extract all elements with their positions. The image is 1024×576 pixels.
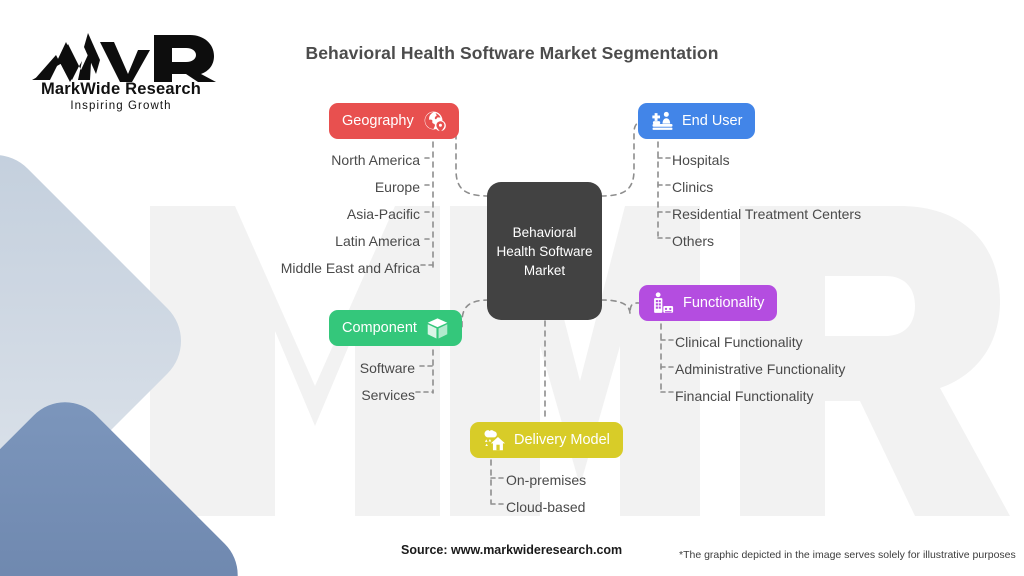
branch-label-delivery: Delivery Model — [514, 432, 610, 448]
logo-tagline: Inspiring Growth — [26, 100, 216, 112]
branch-items-delivery: On-premises Cloud-based — [506, 467, 766, 521]
branch-label-geography: Geography — [342, 113, 414, 129]
list-item: Latin America — [130, 228, 420, 255]
branch-badge-component[interactable]: Component — [329, 310, 462, 346]
branch-badge-functionality[interactable]: Functionality — [639, 285, 777, 321]
branch-label-enduser: End User — [682, 113, 742, 129]
clinic-building-icon — [652, 292, 675, 315]
center-node-label: Behavioral Health Software Market — [487, 223, 602, 280]
list-item: Clinical Functionality — [675, 329, 975, 356]
list-item: North America — [130, 147, 420, 174]
branch-items-functionality: Clinical Functionality Administrative Fu… — [675, 329, 975, 410]
globe-pin-icon — [423, 110, 446, 133]
list-item: On-premises — [506, 467, 766, 494]
source-text: Source: www.markwideresearch.com — [401, 543, 622, 557]
list-item: Asia-Pacific — [130, 201, 420, 228]
cube-box-icon — [426, 317, 449, 340]
list-item: Hospitals — [672, 147, 972, 174]
cloud-house-icon — [483, 429, 506, 452]
branch-items-component: Software Services — [170, 355, 415, 409]
list-item: Software — [170, 355, 415, 382]
list-item: Administrative Functionality — [675, 356, 975, 383]
list-item: Others — [672, 228, 972, 255]
branch-label-component: Component — [342, 320, 417, 336]
disclaimer-text: *The graphic depicted in the image serve… — [679, 549, 1016, 561]
branch-items-enduser: Hospitals Clinics Residential Treatment … — [672, 147, 972, 255]
branch-badge-geography[interactable]: Geography — [329, 103, 459, 139]
branch-badge-enduser[interactable]: End User — [638, 103, 755, 139]
branch-badge-delivery[interactable]: Delivery Model — [470, 422, 623, 458]
list-item: Financial Functionality — [675, 383, 975, 410]
center-node: Behavioral Health Software Market — [487, 182, 602, 320]
decorative-square-dark — [0, 384, 256, 576]
list-item: Middle East and Africa — [130, 255, 420, 282]
list-item: Europe — [130, 174, 420, 201]
list-item: Clinics — [672, 174, 972, 201]
list-item: Cloud-based — [506, 494, 766, 521]
infographic-canvas: MarkWide Research Inspiring Growth Behav… — [0, 0, 1024, 576]
branch-items-geography: North America Europe Asia-Pacific Latin … — [130, 147, 420, 282]
list-item: Services — [170, 382, 415, 409]
list-item: Residential Treatment Centers — [672, 201, 972, 228]
page-title: Behavioral Health Software Market Segmen… — [0, 43, 1024, 64]
branch-label-functionality: Functionality — [683, 295, 764, 311]
logo-company-name: MarkWide Research — [26, 80, 216, 99]
hospital-bed-icon — [651, 110, 674, 133]
